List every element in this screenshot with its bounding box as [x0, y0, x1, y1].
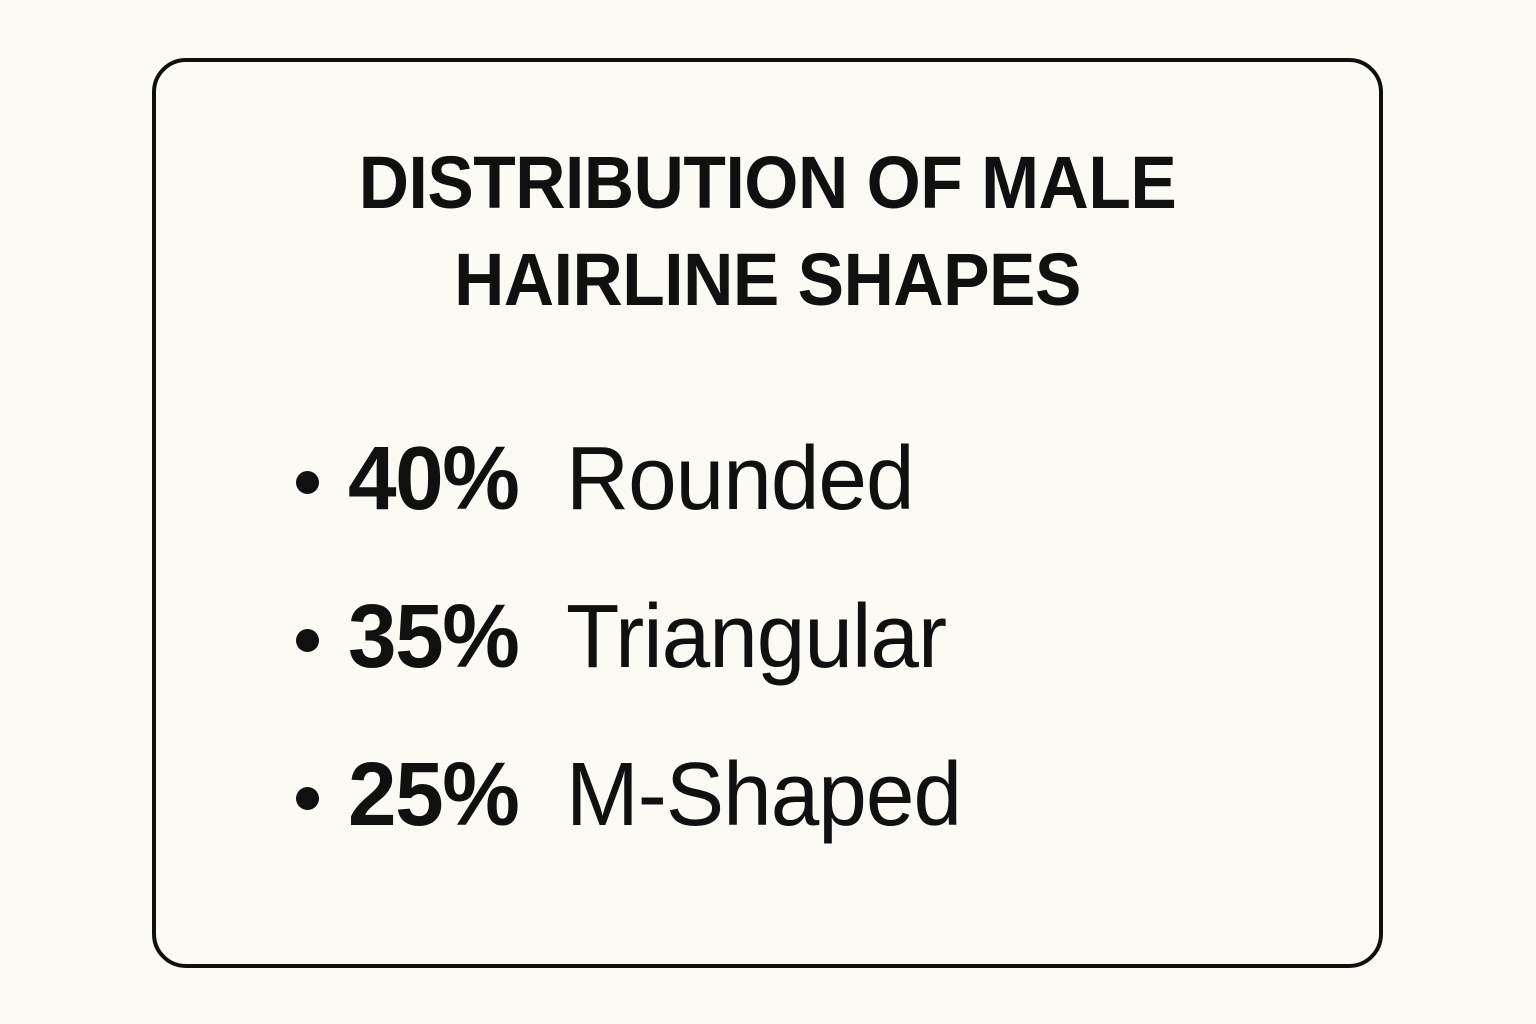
bullet-circle-icon: [296, 471, 319, 494]
bullet-circle-icon: [296, 787, 319, 810]
stat-percent: 25%: [348, 750, 559, 840]
list-item: 35% Triangular: [296, 558, 1319, 716]
hairline-distribution-list: 40% Rounded 35% Triangular 25% M-Shaped: [296, 400, 1319, 874]
stat-percent: 40%: [348, 434, 559, 524]
stat-label: Rounded: [566, 434, 914, 524]
list-item: 25% M-Shaped: [296, 716, 1319, 874]
page-title: DISTRIBUTION OF MALE HAIRLINE SHAPES: [249, 134, 1286, 328]
stat-card: DISTRIBUTION OF MALE HAIRLINE SHAPES 40%…: [152, 58, 1383, 968]
bullet-circle-icon: [296, 629, 319, 652]
list-item: 40% Rounded: [296, 400, 1319, 558]
infographic-canvas: DISTRIBUTION OF MALE HAIRLINE SHAPES 40%…: [0, 0, 1536, 1024]
stat-percent: 35%: [348, 592, 559, 682]
stat-label: Triangular: [566, 592, 946, 682]
stat-label: M-Shaped: [566, 750, 961, 840]
